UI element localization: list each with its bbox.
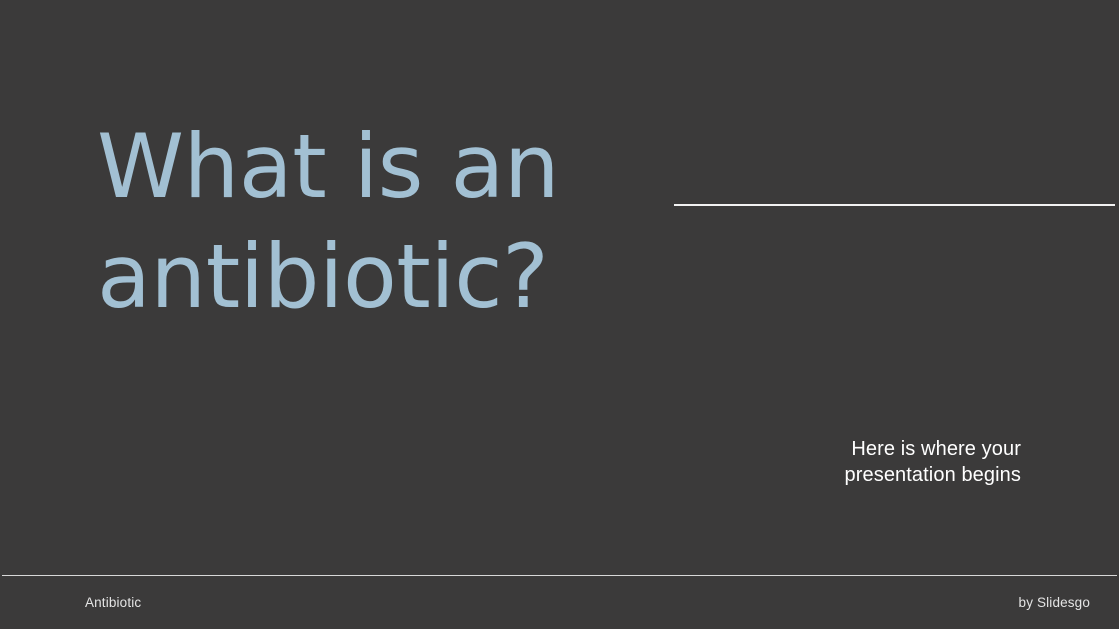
footer-left-label: Antibiotic bbox=[85, 594, 141, 612]
footer-credit-label: by Slidesgo bbox=[1019, 594, 1090, 612]
page-title: What is an antibiotic? bbox=[97, 112, 657, 332]
slide-footer: Antibiotic by Slidesgo bbox=[0, 576, 1119, 629]
subtitle-block: Here is where your presentation begins bbox=[601, 436, 1021, 488]
subtitle-text: Here is where your presentation begins bbox=[601, 436, 1021, 488]
title-block: What is an antibiotic? bbox=[97, 112, 657, 332]
header-divider-line bbox=[674, 204, 1115, 206]
presentation-slide: What is an antibiotic? Here is where you… bbox=[0, 0, 1119, 629]
